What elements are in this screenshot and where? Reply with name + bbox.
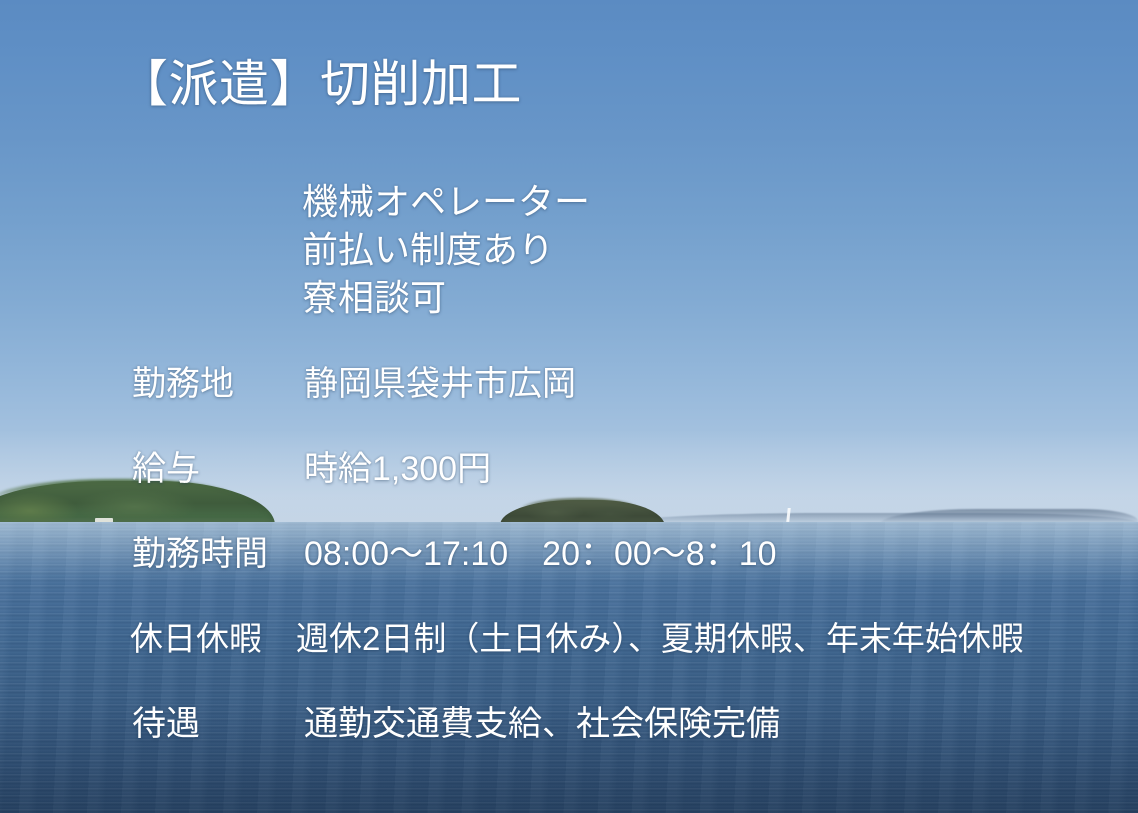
job-highlight-line: 機械オペレーター xyxy=(302,178,590,226)
page-title: 【派遣】切削加工 xyxy=(118,55,522,113)
detail-label: 勤務時間 xyxy=(132,532,304,576)
detail-row-salary: 給与 時給1,300円 xyxy=(132,447,491,491)
detail-row-benefits: 待遇 通勤交通費支給、社会保険完備 xyxy=(132,702,780,746)
detail-row-working-hours: 勤務時間 08:00〜17:10 20：00〜8：10 xyxy=(132,532,777,576)
detail-value: 時給1,300円 xyxy=(304,447,491,491)
job-posting-poster: 【派遣】切削加工 機械オペレーター 前払い制度あり 寮相談可 勤務地 静岡県袋井… xyxy=(0,0,1138,813)
detail-row-holidays: 休日休暇 週休2日制（土日休み）、夏期休暇、年末年始休暇 xyxy=(130,617,1024,661)
detail-label: 勤務地 xyxy=(132,362,304,406)
job-highlights: 機械オペレーター 前払い制度あり 寮相談可 xyxy=(302,178,590,322)
detail-label: 休日休暇 xyxy=(130,617,296,661)
job-highlight-line: 前払い制度あり xyxy=(302,226,590,274)
detail-value: 週休2日制（土日休み）、夏期休暇、年末年始休暇 xyxy=(296,617,1024,661)
text-overlay: 【派遣】切削加工 機械オペレーター 前払い制度あり 寮相談可 勤務地 静岡県袋井… xyxy=(0,0,1138,813)
detail-value: 静岡県袋井市広岡 xyxy=(304,362,576,406)
detail-row-worksite: 勤務地 静岡県袋井市広岡 xyxy=(132,362,576,406)
detail-label: 給与 xyxy=(132,447,304,491)
job-highlight-line: 寮相談可 xyxy=(302,274,590,322)
detail-value: 通勤交通費支給、社会保険完備 xyxy=(304,702,780,746)
detail-value: 08:00〜17:10 20：00〜8：10 xyxy=(304,532,777,576)
detail-label: 待遇 xyxy=(132,702,304,746)
